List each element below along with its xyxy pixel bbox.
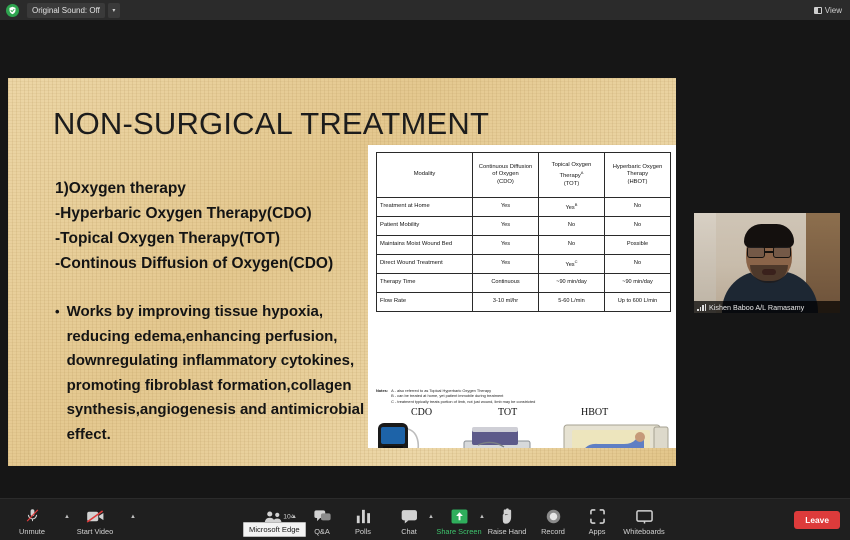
cell-cdo: 3-10 ml/hr [473,293,539,312]
participant-video-thumbnail[interactable]: Kishen Baboo A/L Ramasamy [694,213,840,313]
slide-line: -Continous Diffusion of Oxygen(CDO) [55,251,385,276]
table-footnotes: Notes: A - also referred to as Topical H… [376,388,668,404]
table-header-hbot: Hyperbaric Oxygen Therapy (HBOT) [605,153,671,198]
slide-bullet-paragraph: • Works by improving tissue hypoxia, red… [55,300,385,447]
table-row: Patient Mobility Yes No No [377,217,671,236]
video-background-wall-left [694,213,716,313]
leave-button[interactable]: Leave [794,511,840,529]
cell-tot: No [539,236,605,255]
start-video-label: Start Video [77,527,113,536]
cell-tot: No [539,217,605,236]
table-header-modality: Modality [377,153,473,198]
top-bar: Original Sound: Off ▾ View [0,0,850,20]
cell-hbot: Up to 600 L/min [605,293,671,312]
original-sound-label: Original Sound: Off [32,6,100,15]
video-off-icon [86,506,105,524]
cell-tot: YesB [539,198,605,217]
chat-button[interactable]: Chat [381,506,437,536]
chat-label: Chat [401,527,417,536]
record-icon [546,506,561,524]
qa-label: Q&A [314,527,330,536]
cell-cdo: Yes [473,236,539,255]
slide-line: -Topical Oxygen Therapy(TOT) [55,226,385,251]
chat-icon [401,506,418,524]
apps-label: Apps [589,527,606,536]
table-row: Maintains Moist Wound Bed Yes No Possibl… [377,236,671,255]
row-label: Flow Rate [377,293,473,312]
slide-title: NON-SURGICAL TREATMENT [53,106,489,142]
cell-hbot: No [605,217,671,236]
eyeglasses-icon [747,246,791,258]
comparison-image-block: Modality Continuous Diffusion of Oxygen … [368,145,676,448]
whiteboards-label: Whiteboards [623,527,665,536]
microphone-muted-icon [25,506,40,524]
cell-cdo: Continuous [473,274,539,293]
slide-bullet-text: Works by improving tissue hypoxia, reduc… [67,300,385,447]
layout-view-icon [814,7,822,14]
whiteboards-button[interactable]: Whiteboards [616,506,672,536]
row-label: Direct Wound Treatment [377,255,473,274]
table-row: Flow Rate 3-10 ml/hr 5-60 L/min Up to 60… [377,293,671,312]
table-row: Therapy Time Continuous ~90 min/day ~90 … [377,274,671,293]
table-header-tot: Topical Oxygen TherapyA (TOT) [539,153,605,198]
slide-therapy-list: 1)Oxygen therapy -Hyperbaric Oxygen Ther… [55,176,385,276]
device-illustrations: 700.0 [368,417,676,448]
shield-check-icon [6,4,19,17]
participant-name-bar: Kishen Baboo A/L Ramasamy [694,301,840,313]
signal-bars-icon [697,304,706,311]
original-sound-button[interactable]: Original Sound: Off [27,3,105,18]
original-sound-caret-icon[interactable]: ▾ [108,3,120,18]
cell-tot: 5-60 L/min [539,293,605,312]
polls-label: Polls [355,527,371,536]
slide-line: -Hyperbaric Oxygen Therapy(CDO) [55,201,385,226]
share-screen-icon [451,506,468,524]
row-label: Treatment at Home [377,198,473,217]
apps-icon [590,506,605,524]
whiteboard-icon [636,506,653,524]
device-photos: 700.0 [368,417,676,448]
taskbar-tooltip-microsoft-edge[interactable]: Microsoft Edge [243,522,306,537]
cell-hbot: Possible [605,236,671,255]
table-header-cdo: Continuous Diffusion of Oxygen (CDO) [473,153,539,198]
row-label: Therapy Time [377,274,473,293]
table-body: Treatment at Home Yes YesB No Patient Mo… [377,198,671,312]
row-label: Maintains Moist Wound Bed [377,236,473,255]
meeting-toolbar: Unmute ▲ Start Video ▲ 104 [0,498,850,540]
cell-cdo: Yes [473,217,539,236]
bullet-marker-icon: • [55,300,60,447]
unmute-button[interactable]: Unmute [4,506,60,536]
shared-screen-slide: NON-SURGICAL TREATMENT 1)Oxygen therapy … [8,78,676,466]
cell-hbot: No [605,198,671,217]
unmute-label: Unmute [19,527,45,536]
zoom-meeting-window: Original Sound: Off ▾ View NON-SURGICAL … [0,0,850,540]
cell-cdo: Yes [473,198,539,217]
participant-mouth [762,269,776,275]
slide-line: 1)Oxygen therapy [55,176,385,201]
raise-hand-icon [501,506,514,524]
notes-label: Notes: [376,388,388,404]
qa-icon [314,506,331,524]
cell-hbot: ~90 min/day [605,274,671,293]
view-label: View [825,6,842,15]
start-video-caret-icon[interactable]: ▲ [130,514,136,520]
cell-cdo: Yes [473,255,539,274]
share-screen-label: Share Screen [436,527,481,536]
polls-icon [356,506,371,524]
table-header-row: Modality Continuous Diffusion of Oxygen … [377,153,671,198]
participant-name: Kishen Baboo A/L Ramasamy [709,303,804,312]
row-label: Patient Mobility [377,217,473,236]
table-row: Direct Wound Treatment Yes YesC No [377,255,671,274]
footnote-c: C - treatment typically treats portion o… [391,399,535,404]
cell-tot: YesC [539,255,605,274]
cell-hbot: No [605,255,671,274]
modality-comparison-table: Modality Continuous Diffusion of Oxygen … [376,152,671,312]
raise-hand-label: Raise Hand [488,527,527,536]
view-button[interactable]: View [814,3,842,17]
table-row: Treatment at Home Yes YesB No [377,198,671,217]
participant-hair [744,224,794,248]
leave-label: Leave [805,515,829,525]
cell-tot: ~90 min/day [539,274,605,293]
record-label: Record [541,527,565,536]
start-video-button[interactable]: Start Video [67,506,123,536]
